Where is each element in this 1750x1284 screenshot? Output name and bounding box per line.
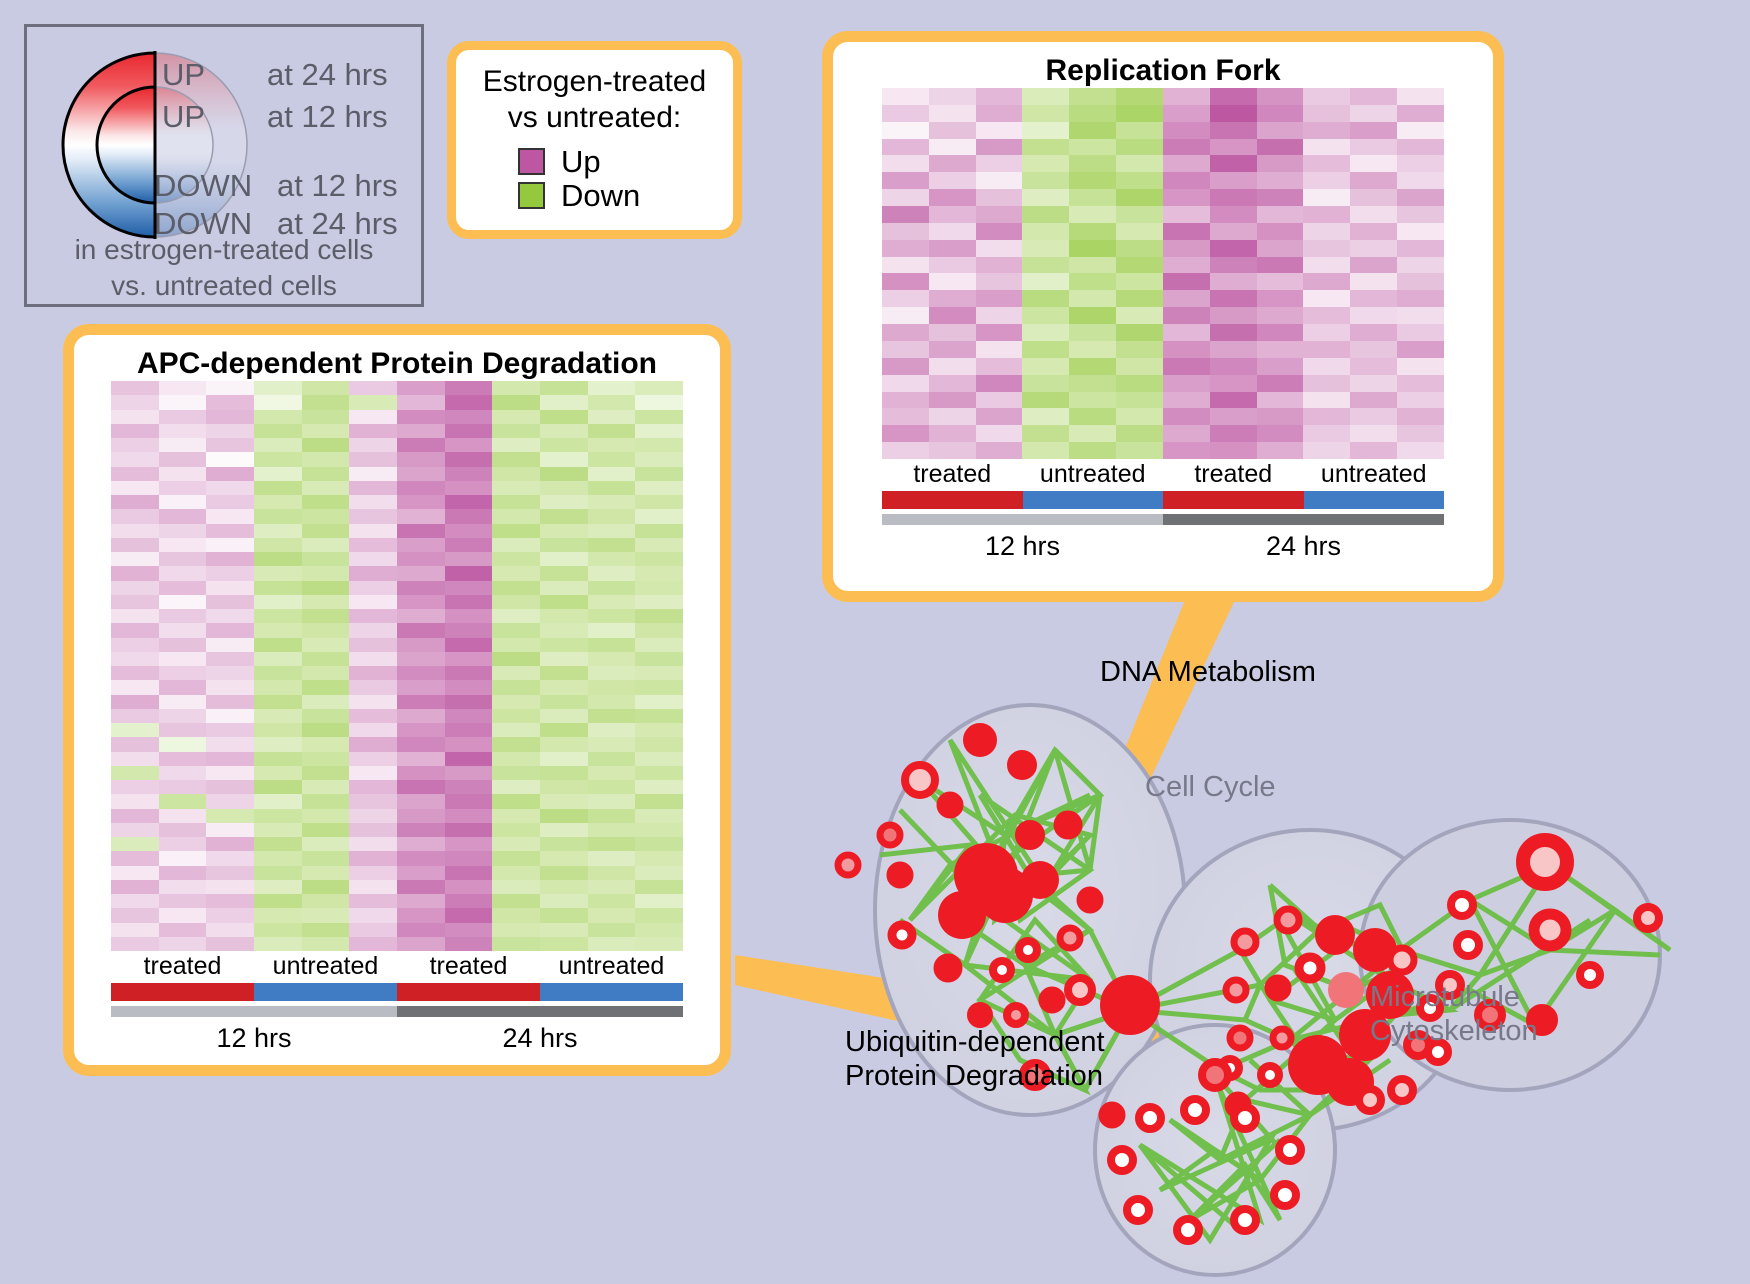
heatmap-cell	[254, 652, 302, 666]
heatmap-cell	[111, 623, 159, 637]
heatmap-cell	[349, 524, 397, 538]
colorwheel-footer: in estrogen-treated cells vs. untreated …	[27, 232, 421, 304]
heatmap-cell	[1022, 240, 1069, 257]
heatmap-cell	[1069, 189, 1116, 206]
heatmap-cell	[445, 809, 493, 823]
heatmap-cell	[492, 851, 540, 865]
heatmap-cell	[397, 923, 445, 937]
heatmap-cell	[588, 823, 636, 837]
heatmap-cell	[349, 666, 397, 680]
timepoint-label: 12 hrs	[111, 1021, 397, 1055]
heatmap-cell	[1397, 240, 1444, 257]
heatmap-cell	[1069, 105, 1116, 122]
heatmap-cell	[1116, 155, 1163, 172]
heatmap-cell	[397, 509, 445, 523]
heatmap-cell	[254, 552, 302, 566]
heatmap-cell	[445, 894, 493, 908]
heatmap-cell	[929, 442, 976, 459]
heatmap-cell	[1022, 122, 1069, 139]
heatmap-cell	[254, 467, 302, 481]
heatmap-cell	[111, 923, 159, 937]
timepoint-labels-apc: 12 hrs24 hrs	[111, 1021, 683, 1055]
heatmap-cell	[492, 666, 540, 680]
heatmap-cell	[1116, 408, 1163, 425]
heatmap-cell	[445, 880, 493, 894]
heatmap-cell	[302, 737, 350, 751]
heatmap-cell	[349, 652, 397, 666]
heatmap-cell	[1350, 172, 1397, 189]
heatmap-cell	[588, 923, 636, 937]
heatmap-cell	[445, 766, 493, 780]
heatmap-cell	[635, 652, 683, 666]
heatmap-cell	[540, 851, 588, 865]
heatmap-cell	[492, 837, 540, 851]
heatmap-cell	[1303, 223, 1350, 240]
heatmap-cell	[349, 723, 397, 737]
heatmap-cell	[159, 766, 207, 780]
heatmap-cell	[206, 395, 254, 409]
heatmap-cell	[445, 410, 493, 424]
heatmap-cell	[159, 923, 207, 937]
heatmap-cell	[929, 189, 976, 206]
heatmap-cell	[540, 509, 588, 523]
heatmap-cell	[254, 908, 302, 922]
heatmap-cell	[1303, 290, 1350, 307]
heatmap-cell	[492, 495, 540, 509]
heatmap-cell	[635, 495, 683, 509]
heatmap-cell	[349, 538, 397, 552]
heatmap-cell	[492, 623, 540, 637]
heatmap-cell	[492, 481, 540, 495]
panel-replication-fork: Replication Fork treateduntreatedtreated…	[822, 31, 1504, 602]
heatmap-cell	[540, 794, 588, 808]
heatmap-cell	[635, 381, 683, 395]
heatmap-cell	[254, 866, 302, 880]
heatmap-cell	[445, 538, 493, 552]
heatmap-cell	[302, 424, 350, 438]
heatmap-cell	[302, 566, 350, 580]
heatmap-cell	[492, 937, 540, 951]
heatmap-cell	[397, 410, 445, 424]
heatmap-cell	[302, 780, 350, 794]
heatmap-cell	[976, 105, 1023, 122]
heatmap-cell	[397, 609, 445, 623]
heatmap-cell	[635, 709, 683, 723]
cluster-label-ubiquitin: Ubiquitin-dependent Protein Degradation	[845, 1025, 1105, 1093]
heatmap-cell	[1397, 425, 1444, 442]
heatmap-cell	[635, 923, 683, 937]
heatmap-cell	[540, 438, 588, 452]
heatmap-cell	[588, 438, 636, 452]
heatmap-cell	[1397, 105, 1444, 122]
heatmap-cell	[1303, 257, 1350, 274]
heatmap-cell	[302, 609, 350, 623]
heatmap-cell	[349, 680, 397, 694]
heatmap-cell	[1303, 392, 1350, 409]
heatmap-cell	[1303, 408, 1350, 425]
heatmap-cell	[929, 408, 976, 425]
heatmap-cell	[588, 509, 636, 523]
heatmap-cell	[1210, 442, 1257, 459]
condition-label: treated	[1163, 459, 1304, 489]
heatmap-cell	[254, 638, 302, 652]
timepoint-bar-segment	[111, 1006, 397, 1017]
heatmap-cell	[492, 566, 540, 580]
heatmap-cell	[159, 752, 207, 766]
condition-bar-segment	[1023, 491, 1164, 509]
heatmap-cell	[397, 780, 445, 794]
heatmap-apc-degradation	[111, 381, 683, 951]
heatmap-cell	[397, 851, 445, 865]
heatmap-cell	[492, 581, 540, 595]
heatmap-cell	[1397, 223, 1444, 240]
heatmap-cell	[635, 424, 683, 438]
heatmap-cell	[588, 752, 636, 766]
heatmap-cell	[976, 155, 1023, 172]
heatmap-cell	[302, 410, 350, 424]
heatmap-cell	[397, 566, 445, 580]
heatmap-cell	[1163, 223, 1210, 240]
timepoint-bar-apc	[111, 1006, 683, 1017]
heatmap-cell	[302, 866, 350, 880]
heatmap-cell	[1210, 257, 1257, 274]
heatmap-cell	[1397, 155, 1444, 172]
heatmap-cell	[1257, 290, 1304, 307]
panel-apc-degradation: APC-dependent Protein Degradation treate…	[63, 324, 731, 1076]
heatmap-cell	[302, 467, 350, 481]
heatmap-cell	[588, 566, 636, 580]
heatmap-cell	[1397, 273, 1444, 290]
heatmap-cell	[635, 538, 683, 552]
heatmap-cell	[1210, 375, 1257, 392]
heatmap-cell	[397, 866, 445, 880]
heatmap-cell	[349, 937, 397, 951]
heatmap-cell	[349, 880, 397, 894]
heatmap-cell	[1116, 223, 1163, 240]
heatmap-cell	[445, 438, 493, 452]
heatmap-cell	[929, 358, 976, 375]
heatmap-cell	[492, 552, 540, 566]
condition-label: untreated	[1304, 459, 1445, 489]
condition-bar-replication	[882, 491, 1444, 509]
panel-replication-fork-title: Replication Fork	[833, 42, 1493, 88]
heatmap-cell	[492, 438, 540, 452]
heatmap-cell	[445, 638, 493, 652]
heatmap-cell	[111, 737, 159, 751]
heatmap-cell	[445, 680, 493, 694]
heatmap-cell	[111, 609, 159, 623]
heatmap-cell	[882, 290, 929, 307]
heatmap-cell	[445, 794, 493, 808]
heatmap-cell	[929, 155, 976, 172]
timepoint-labels-replication: 12 hrs24 hrs	[882, 529, 1444, 563]
heatmap-cell	[397, 595, 445, 609]
heatmap-cell	[111, 809, 159, 823]
heatmap-cell	[206, 823, 254, 837]
heatmap-cell	[397, 709, 445, 723]
heatmap-cell	[1163, 408, 1210, 425]
heatmap-cell	[206, 481, 254, 495]
heatmap-cell	[111, 566, 159, 580]
estrogen-legend-title-line1: Estrogen-treated	[456, 64, 733, 100]
heatmap-cell	[254, 780, 302, 794]
heatmap-cell	[254, 752, 302, 766]
heatmap-cell	[302, 937, 350, 951]
heatmap-cell	[111, 794, 159, 808]
condition-bar-segment	[1304, 491, 1445, 509]
condition-label: untreated	[254, 951, 397, 981]
heatmap-cell	[492, 652, 540, 666]
heatmap-cell	[206, 866, 254, 880]
heatmap-cell	[1163, 273, 1210, 290]
heatmap-cell	[206, 880, 254, 894]
heatmap-cell	[1257, 324, 1304, 341]
heatmap-cell	[445, 652, 493, 666]
heatmap-cell	[588, 581, 636, 595]
heatmap-cell	[445, 452, 493, 466]
heatmap-cell	[349, 780, 397, 794]
heatmap-cell	[635, 481, 683, 495]
heatmap-cell	[254, 937, 302, 951]
down-swatch-icon	[518, 182, 545, 209]
heatmap-cell	[588, 381, 636, 395]
heatmap-cell	[111, 452, 159, 466]
heatmap-cell	[492, 467, 540, 481]
heatmap-cell	[206, 410, 254, 424]
heatmap-cell	[1350, 240, 1397, 257]
heatmap-cell	[159, 823, 207, 837]
heatmap-cell	[1069, 408, 1116, 425]
heatmap-cell	[1257, 206, 1304, 223]
heatmap-cell	[1022, 155, 1069, 172]
heatmap-cell	[588, 709, 636, 723]
heatmap-cell	[635, 937, 683, 951]
heatmap-cell	[882, 341, 929, 358]
heatmap-cell	[882, 240, 929, 257]
heatmap-cell	[349, 395, 397, 409]
figure-canvas: UP at 24 hrs UP at 12 hrs DOWN at 12 hrs…	[0, 0, 1750, 1279]
heatmap-cell	[445, 395, 493, 409]
heatmap-cell	[1257, 105, 1304, 122]
heatmap-cell	[929, 139, 976, 156]
heatmap-cell	[111, 638, 159, 652]
heatmap-cell	[635, 837, 683, 851]
heatmap-cell	[111, 866, 159, 880]
heatmap-cell	[111, 823, 159, 837]
heatmap-cell	[397, 837, 445, 851]
heatmap-cell	[588, 595, 636, 609]
colorwheel-legend-box: UP at 24 hrs UP at 12 hrs DOWN at 12 hrs…	[24, 24, 424, 307]
heatmap-cell	[588, 467, 636, 481]
heatmap-cell	[1257, 172, 1304, 189]
heatmap-cell	[349, 566, 397, 580]
heatmap-cell	[445, 851, 493, 865]
heatmap-cell	[1210, 105, 1257, 122]
heatmap-cell	[492, 595, 540, 609]
heatmap-cell	[976, 341, 1023, 358]
heatmap-cell	[445, 908, 493, 922]
heatmap-cell	[1303, 324, 1350, 341]
heatmap-cell	[254, 595, 302, 609]
heatmap-cell	[206, 766, 254, 780]
heatmap-cell	[445, 467, 493, 481]
heatmap-cell	[111, 538, 159, 552]
heatmap-cell	[1350, 122, 1397, 139]
heatmap-cell	[1210, 425, 1257, 442]
heatmap-cell	[1257, 442, 1304, 459]
heatmap-cell	[1257, 88, 1304, 105]
condition-label: treated	[111, 951, 254, 981]
heatmap-cell	[1069, 155, 1116, 172]
estrogen-legend-title-line2: vs untreated:	[456, 100, 733, 136]
heatmap-cell	[1069, 223, 1116, 240]
heatmap-cell	[1116, 139, 1163, 156]
heatmap-cell	[1257, 392, 1304, 409]
condition-bar-apc	[111, 983, 683, 1001]
heatmap-cell	[635, 410, 683, 424]
heatmap-cell	[1022, 375, 1069, 392]
heatmap-cell	[588, 495, 636, 509]
heatmap-cell	[635, 524, 683, 538]
heatmap-cell	[302, 908, 350, 922]
heatmap-cell	[976, 88, 1023, 105]
heatmap-cell	[159, 809, 207, 823]
heatmap-cell	[492, 509, 540, 523]
heatmap-cell	[588, 837, 636, 851]
heatmap-cell	[397, 737, 445, 751]
heatmap-cell	[929, 223, 976, 240]
up-swatch-icon	[518, 148, 545, 175]
heatmap-cell	[159, 666, 207, 680]
heatmap-cell	[1257, 257, 1304, 274]
heatmap-cell	[635, 467, 683, 481]
heatmap-cell	[1163, 122, 1210, 139]
heatmap-replication-fork	[882, 88, 1444, 459]
heatmap-cell	[1163, 206, 1210, 223]
heatmap-cell	[492, 695, 540, 709]
heatmap-cell	[302, 581, 350, 595]
heatmap-cell	[1350, 189, 1397, 206]
heatmap-cell	[1069, 442, 1116, 459]
heatmap-cell	[1022, 206, 1069, 223]
heatmap-cell	[588, 609, 636, 623]
heatmap-cell	[1116, 172, 1163, 189]
heatmap-cell	[1303, 307, 1350, 324]
cw-row-1-time: at 12 hrs	[267, 101, 388, 132]
heatmap-cell	[159, 452, 207, 466]
heatmap-cell	[540, 381, 588, 395]
heatmap-cell	[302, 481, 350, 495]
heatmap-cell	[540, 837, 588, 851]
heatmap-cell	[1303, 206, 1350, 223]
heatmap-cell	[1303, 122, 1350, 139]
heatmap-cell	[492, 609, 540, 623]
heatmap-cell	[588, 866, 636, 880]
heatmap-cell	[302, 395, 350, 409]
heatmap-cell	[397, 395, 445, 409]
heatmap-cell	[206, 538, 254, 552]
heatmap-cell	[540, 666, 588, 680]
heatmap-cell	[1210, 139, 1257, 156]
heatmap-cell	[445, 609, 493, 623]
heatmap-cell	[206, 652, 254, 666]
heatmap-cell	[1163, 425, 1210, 442]
heatmap-cell	[1116, 392, 1163, 409]
heatmap-cell	[588, 894, 636, 908]
heatmap-cell	[976, 324, 1023, 341]
heatmap-cell	[540, 894, 588, 908]
heatmap-cell	[159, 937, 207, 951]
heatmap-cell	[254, 424, 302, 438]
heatmap-cell	[882, 375, 929, 392]
heatmap-cell	[1257, 139, 1304, 156]
heatmap-cell	[492, 410, 540, 424]
heatmap-cell	[635, 609, 683, 623]
heatmap-cell	[206, 595, 254, 609]
heatmap-cell	[1350, 273, 1397, 290]
heatmap-cell	[1069, 392, 1116, 409]
heatmap-cell	[540, 809, 588, 823]
heatmap-cell	[254, 680, 302, 694]
heatmap-cell	[111, 581, 159, 595]
heatmap-cell	[159, 467, 207, 481]
heatmap-cell	[111, 695, 159, 709]
heatmap-cell	[397, 481, 445, 495]
heatmap-cell	[976, 290, 1023, 307]
heatmap-cell	[1397, 189, 1444, 206]
heatmap-cell	[254, 737, 302, 751]
heatmap-cell	[882, 425, 929, 442]
heatmap-cell	[1303, 358, 1350, 375]
heatmap-cell	[1022, 425, 1069, 442]
heatmap-cell	[349, 467, 397, 481]
heatmap-cell	[111, 851, 159, 865]
heatmap-cell	[349, 609, 397, 623]
heatmap-cell	[882, 273, 929, 290]
heatmap-cell	[445, 481, 493, 495]
heatmap-cell	[1350, 257, 1397, 274]
heatmap-cell	[929, 425, 976, 442]
heatmap-cell	[588, 737, 636, 751]
condition-bar-segment	[882, 491, 1023, 509]
heatmap-cell	[1069, 257, 1116, 274]
heatmap-cell	[206, 623, 254, 637]
heatmap-cell	[206, 780, 254, 794]
heatmap-cell	[445, 737, 493, 751]
heatmap-cell	[492, 452, 540, 466]
heatmap-cell	[1069, 375, 1116, 392]
heatmap-cell	[206, 638, 254, 652]
heatmap-cell	[976, 240, 1023, 257]
heatmap-cell	[397, 894, 445, 908]
heatmap-cell	[540, 680, 588, 694]
heatmap-cell	[111, 395, 159, 409]
heatmap-cell	[588, 552, 636, 566]
heatmap-cell	[397, 381, 445, 395]
heatmap-cell	[254, 851, 302, 865]
heatmap-cell	[635, 395, 683, 409]
heatmap-cell	[1163, 189, 1210, 206]
heatmap-cell	[1116, 307, 1163, 324]
heatmap-cell	[1303, 273, 1350, 290]
heatmap-cell	[588, 880, 636, 894]
heatmap-cell	[588, 666, 636, 680]
heatmap-cell	[349, 823, 397, 837]
heatmap-cell	[349, 424, 397, 438]
heatmap-cell	[445, 666, 493, 680]
heatmap-cell	[929, 105, 976, 122]
heatmap-cell	[1163, 442, 1210, 459]
